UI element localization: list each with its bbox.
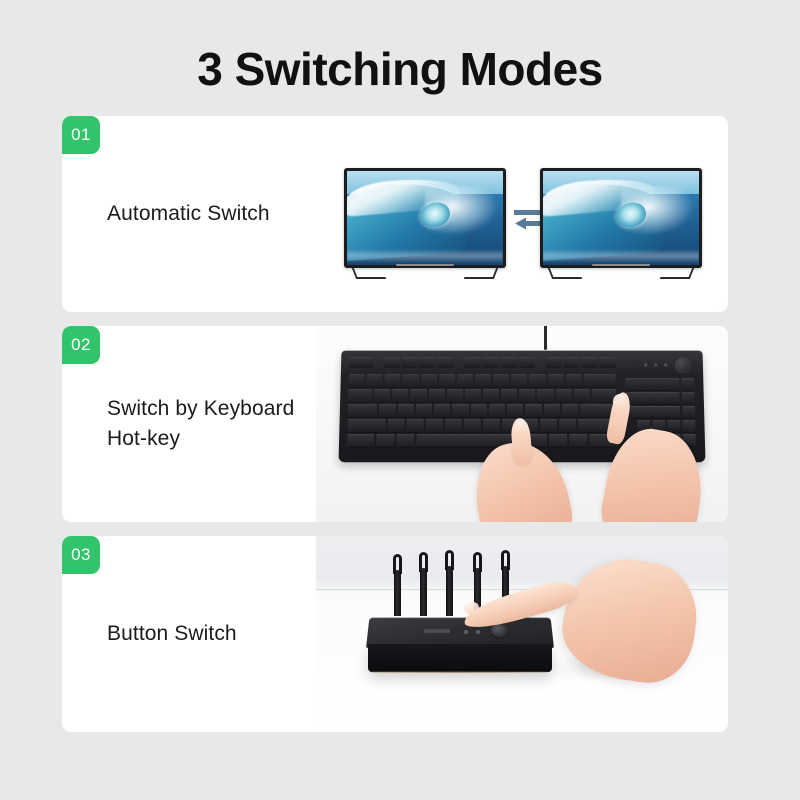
- key-q: [374, 389, 390, 402]
- key-9: [511, 374, 527, 387]
- key-numpad-4: [637, 406, 650, 418]
- key-numpad-6: [667, 406, 680, 418]
- keyboard-bottom-row: [347, 434, 617, 447]
- tv-leg-left: [548, 268, 582, 279]
- key-f4: [438, 358, 454, 368]
- key-w: [392, 389, 408, 402]
- keyboard-shift-row: [347, 419, 616, 432]
- wave-wash: [347, 249, 503, 262]
- key-f8: [519, 358, 535, 368]
- key-numpad-5: [652, 406, 665, 418]
- key-quote: [562, 404, 578, 417]
- mode-card-automatic-switch[interactable]: 01 Automatic Switch: [62, 116, 728, 312]
- key-period: [540, 419, 557, 432]
- key-slash: [559, 419, 576, 432]
- key-numpad-divide: [651, 378, 664, 390]
- keyboard-cable: [544, 326, 547, 350]
- key-numpad-plus: [682, 392, 695, 404]
- key-e: [411, 389, 427, 402]
- key-t: [447, 389, 463, 402]
- device-front-face: [368, 644, 552, 672]
- mode-label-line-2: Hot-key: [107, 424, 367, 454]
- wave-wash: [543, 249, 699, 262]
- tv-leg-right: [464, 268, 498, 279]
- device-led-2: [476, 630, 480, 634]
- key-menu: [569, 434, 587, 447]
- key-7: [475, 374, 491, 387]
- key-backtick: [348, 374, 364, 387]
- mode-label-line-1: Switch by Keyboard: [107, 394, 367, 424]
- tv-illustration: [336, 116, 728, 312]
- numpad-row-1: [637, 378, 695, 390]
- tv-leg-right: [660, 268, 694, 279]
- key-f5: [465, 358, 481, 368]
- key-p: [537, 389, 553, 402]
- key-numpad-spacer: [682, 406, 695, 418]
- key-numpad-8: [652, 392, 665, 404]
- infographic-page: 3 Switching Modes 01 Automatic Switch: [0, 0, 800, 800]
- tv-screen: [543, 171, 699, 265]
- key-o: [519, 389, 535, 402]
- key-minus: [547, 374, 563, 387]
- tv-leg-left: [352, 268, 386, 279]
- key-windows-right: [550, 434, 568, 447]
- keyboard-qwerty-row: [348, 389, 616, 402]
- key-n: [483, 419, 500, 432]
- key-b: [464, 419, 481, 432]
- key-f7: [501, 358, 517, 368]
- key-numpad-minus: [681, 378, 694, 390]
- key-z: [387, 419, 404, 432]
- card-inner: 03 Button Switch: [62, 536, 728, 732]
- key-d: [416, 404, 432, 417]
- step-badge-01: 01: [62, 116, 100, 154]
- mode-label-automatic-switch: Automatic Switch: [107, 199, 367, 229]
- key-semicolon: [544, 404, 560, 417]
- key-8: [493, 374, 509, 387]
- step-badge-02: 02: [62, 326, 100, 364]
- card-inner: 01 Automatic Switch: [62, 116, 728, 312]
- numpad-row-3: [637, 406, 695, 418]
- key-equals: [565, 374, 581, 387]
- cable-1: [394, 570, 401, 616]
- page-title: 3 Switching Modes: [0, 44, 800, 95]
- key-f12: [599, 358, 615, 368]
- tv-bezel: [540, 168, 702, 268]
- mode-card-button-switch[interactable]: 03 Button Switch: [62, 536, 728, 732]
- key-5: [439, 374, 455, 387]
- mode-label-button-switch: Button Switch: [107, 619, 367, 649]
- led-capslock: [654, 363, 657, 366]
- cable-2: [420, 568, 427, 616]
- key-windows-left: [376, 434, 394, 447]
- key-backspace: [584, 374, 616, 387]
- key-2: [385, 374, 401, 387]
- key-f6: [483, 358, 499, 368]
- mode-label-keyboard-hotkey: Switch by Keyboard Hot-key: [107, 394, 367, 454]
- device-brand-logo: [424, 629, 450, 633]
- key-g: [452, 404, 468, 417]
- key-c: [425, 419, 442, 432]
- key-k: [507, 404, 523, 417]
- keyboard-illustration: [316, 326, 728, 522]
- key-s: [397, 404, 413, 417]
- key-v: [445, 419, 462, 432]
- keyboard-main-block: [347, 358, 617, 448]
- key-esc: [349, 358, 373, 368]
- led-numlock: [644, 363, 647, 366]
- device-base-edge: [372, 671, 548, 673]
- key-numpad-3: [667, 420, 680, 432]
- switch-box-icon: [366, 614, 554, 676]
- keyboard-indicator-leds: [644, 363, 667, 366]
- key-l: [525, 404, 541, 417]
- key-numpad-9: [667, 392, 680, 404]
- key-f: [434, 404, 450, 417]
- key-alt-left: [396, 434, 414, 447]
- device-led-1: [464, 630, 468, 634]
- key-f11: [581, 358, 597, 368]
- key-numpad-multiply: [666, 378, 679, 390]
- key-y: [465, 389, 481, 402]
- key-a: [379, 404, 396, 417]
- key-f3: [420, 358, 436, 368]
- step-badge-03: 03: [62, 536, 100, 574]
- key-j: [489, 404, 505, 417]
- key-f1: [384, 358, 400, 368]
- key-4: [421, 374, 437, 387]
- key-f9: [546, 358, 562, 368]
- key-0: [529, 374, 545, 387]
- key-f10: [564, 358, 580, 368]
- tv-bezel: [344, 168, 506, 268]
- numpad-row-2: [637, 392, 695, 404]
- cable-3: [446, 566, 453, 616]
- mode-card-keyboard-hotkey[interactable]: 02 Switch by Keyboard Hot-key: [62, 326, 728, 522]
- tv-brand-chin: [592, 264, 650, 266]
- led-scrolllock: [664, 363, 667, 366]
- key-numlock: [637, 378, 650, 390]
- key-bracket-left: [556, 389, 572, 402]
- key-i: [501, 389, 517, 402]
- device-switch-button[interactable]: [491, 624, 508, 637]
- key-6: [457, 374, 473, 387]
- key-numpad-enter: [682, 420, 695, 432]
- tv-icon-left: [344, 168, 506, 268]
- keyboard-home-row: [348, 404, 616, 417]
- tv-icon-right: [540, 168, 702, 268]
- keyboard-function-row: [349, 358, 615, 368]
- key-f2: [402, 358, 418, 368]
- key-r: [429, 389, 445, 402]
- keyboard-brand-logo: [675, 358, 691, 374]
- key-3: [403, 374, 419, 387]
- key-h: [471, 404, 487, 417]
- keyboard-number-row: [348, 374, 615, 387]
- tv-brand-chin: [396, 264, 454, 266]
- key-1: [367, 374, 383, 387]
- key-x: [406, 419, 423, 432]
- key-u: [483, 389, 499, 402]
- tv-screen: [347, 171, 503, 265]
- key-numpad-7: [637, 392, 650, 404]
- card-inner: 02 Switch by Keyboard Hot-key: [62, 326, 728, 522]
- switch-box-illustration: [316, 536, 728, 732]
- key-bracket-right: [574, 389, 590, 402]
